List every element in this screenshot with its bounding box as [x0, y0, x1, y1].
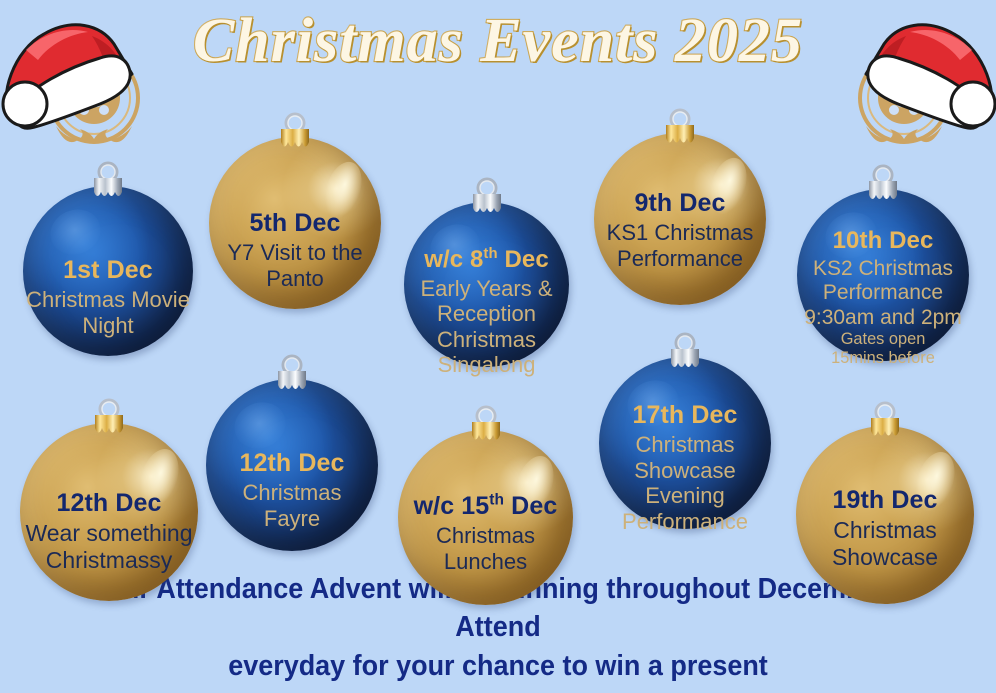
bauble-12th-dec-wear[interactable]: 12th DecWear somethingChristmassy [20, 397, 198, 601]
bauble-sphere [599, 357, 771, 529]
bauble-highlight [509, 451, 561, 518]
bauble-cap-silver-icon [860, 163, 906, 207]
bauble-sphere [796, 426, 974, 604]
bauble-cap [464, 176, 510, 225]
bauble-highlight [318, 157, 369, 223]
bauble-cap [463, 404, 509, 453]
christmas-events-poster: Christmas Events 2025 1st DecChristmas M… [0, 0, 996, 693]
bauble-highlight [44, 202, 108, 262]
bauble-19th-dec[interactable]: 19th DecChristmasShowcase [796, 400, 974, 604]
bauble-sphere [23, 186, 193, 356]
bauble-cap [272, 111, 318, 160]
bauble-highlight [818, 205, 883, 266]
bauble-sphere [398, 430, 573, 605]
bauble-highlight [227, 395, 292, 456]
bauble-sphere [404, 202, 569, 367]
bauble-cap-gold-icon [86, 397, 132, 441]
footer-line-2: everyday for your chance to win a presen… [63, 647, 933, 685]
bauble-sphere [594, 133, 766, 305]
bauble-highlight [424, 217, 486, 275]
bauble-1st-dec[interactable]: 1st DecChristmas MovieNight [23, 160, 193, 356]
bauble-cap-silver-icon [464, 176, 510, 220]
bauble-sphere [206, 379, 378, 551]
bauble-9th-dec[interactable]: 9th DecKS1 ChristmasPerformance [594, 107, 766, 305]
bauble-highlight [620, 373, 685, 434]
bauble-wc-15th-dec[interactable]: w/c 15th DecChristmasLunches [398, 404, 573, 605]
bauble-cap-silver-icon [85, 160, 131, 204]
bauble-sphere [20, 423, 198, 601]
bauble-10th-dec[interactable]: 10th DecKS2 ChristmasPerformance9:30am a… [797, 163, 969, 361]
bauble-sphere [797, 189, 969, 361]
bauble-wc-8th-dec[interactable]: w/c 8th DecEarly Years &ReceptionChristm… [404, 176, 569, 367]
bauble-cap-silver-icon [662, 331, 708, 375]
bauble-sphere [209, 137, 381, 309]
bauble-cap [269, 353, 315, 402]
bauble-5th-dec[interactable]: 5th DecY7 Visit to thePanto [209, 111, 381, 309]
bauble-17th-dec[interactable]: 17th DecChristmasShowcaseEveningPerforma… [599, 331, 771, 529]
bauble-cap-gold-icon [463, 404, 509, 448]
bauble-cap [657, 107, 703, 156]
page-title: Christmas Events 2025 [0, 6, 996, 77]
bauble-cap [662, 331, 708, 380]
bauble-cap [86, 397, 132, 446]
bauble-12th-dec-fayre[interactable]: 12th DecChristmasFayre [206, 353, 378, 551]
bauble-cap-gold-icon [657, 107, 703, 151]
bauble-cap-gold-icon [272, 111, 318, 155]
bauble-cap-silver-icon [269, 353, 315, 397]
bauble-highlight [133, 444, 186, 513]
bauble-highlight [909, 447, 962, 516]
bauble-cap-gold-icon [862, 400, 908, 444]
bauble-cap [860, 163, 906, 212]
bauble-highlight [703, 153, 754, 219]
bauble-cap [862, 400, 908, 449]
bauble-cap [85, 160, 131, 209]
